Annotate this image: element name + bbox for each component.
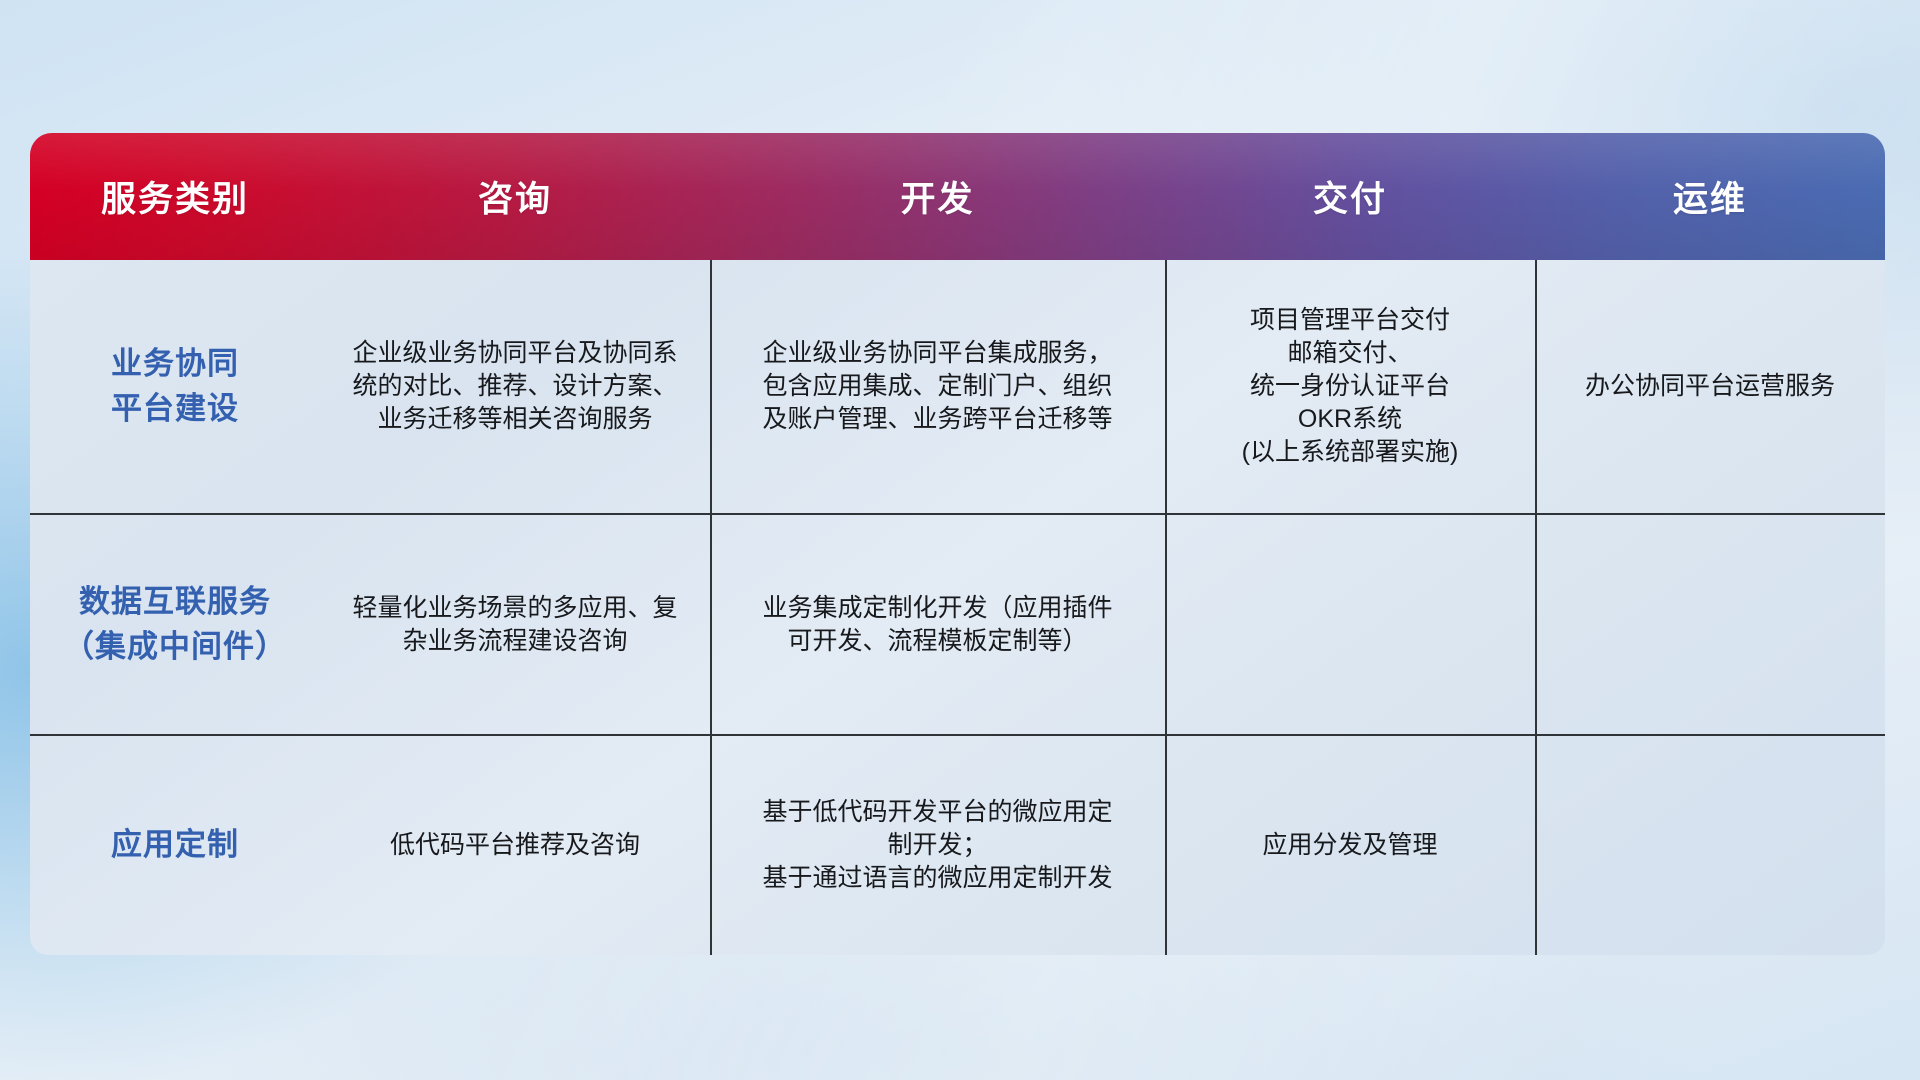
cell-operations — [1535, 515, 1885, 734]
cell-consulting: 低代码平台推荐及咨询 — [320, 736, 710, 955]
table-row: 业务协同 平台建设 企业级业务协同平台及协同系 统的对比、推荐、设计方案、 业务… — [30, 260, 1885, 513]
cell-text: 轻量化业务场景的多应用、复 杂业务流程建设咨询 — [352, 592, 677, 658]
table-header-row: 服务类别 咨询 开发 交付 运维 — [30, 133, 1885, 260]
cell-text: 业务集成定制化开发（应用插件 可开发、流程模板定制等） — [762, 592, 1112, 658]
cell-delivery: 应用分发及管理 — [1165, 736, 1535, 955]
header-cell-operations: 运维 — [1535, 133, 1885, 260]
cell-delivery: 项目管理平台交付 邮箱交付、 统一身份认证平台 OKR系统 (以上系统部署实施) — [1165, 260, 1535, 513]
table-body: 业务协同 平台建设 企业级业务协同平台及协同系 统的对比、推荐、设计方案、 业务… — [30, 260, 1885, 955]
cell-text: 办公协同平台运营服务 — [1585, 370, 1835, 403]
cell-text: 项目管理平台交付 邮箱交付、 统一身份认证平台 OKR系统 (以上系统部署实施) — [1242, 304, 1459, 469]
cell-development: 业务集成定制化开发（应用插件 可开发、流程模板定制等） — [710, 515, 1165, 734]
cell-consulting: 企业级业务协同平台及协同系 统的对比、推荐、设计方案、 业务迁移等相关咨询服务 — [320, 260, 710, 513]
cell-category: 应用定制 — [30, 736, 320, 955]
cell-consulting: 轻量化业务场景的多应用、复 杂业务流程建设咨询 — [320, 515, 710, 734]
header-cell-consulting: 咨询 — [320, 133, 710, 260]
header-cell-development: 开发 — [710, 133, 1165, 260]
table-row: 应用定制 低代码平台推荐及咨询 基于低代码开发平台的微应用定 制开发； 基于通过… — [30, 734, 1885, 955]
cell-text: 应用定制 — [111, 823, 239, 868]
table-row: 数据互联服务 （集成中间件） 轻量化业务场景的多应用、复 杂业务流程建设咨询 业… — [30, 513, 1885, 734]
cell-text: 企业级业务协同平台及协同系 统的对比、推荐、设计方案、 业务迁移等相关咨询服务 — [352, 337, 677, 436]
cell-text: 低代码平台推荐及咨询 — [390, 829, 640, 862]
cell-text: 企业级业务协同平台集成服务， 包含应用集成、定制门户、组织 及账户管理、业务跨平… — [762, 337, 1112, 436]
cell-development: 企业级业务协同平台集成服务， 包含应用集成、定制门户、组织 及账户管理、业务跨平… — [710, 260, 1165, 513]
slide-canvas: 服务类别 咨询 开发 交付 运维 业务协同 平台建设 企业级业务协同平台及协同系… — [0, 0, 1920, 1080]
cell-text: 基于低代码开发平台的微应用定 制开发； 基于通过语言的微应用定制开发 — [762, 796, 1112, 895]
cell-operations — [1535, 736, 1885, 955]
cell-operations: 办公协同平台运营服务 — [1535, 260, 1885, 513]
cell-text: 数据互联服务 （集成中间件） — [63, 580, 287, 670]
cell-text: 业务协同 平台建设 — [111, 342, 239, 432]
header-cell-delivery: 交付 — [1165, 133, 1535, 260]
cell-development: 基于低代码开发平台的微应用定 制开发； 基于通过语言的微应用定制开发 — [710, 736, 1165, 955]
cell-category: 数据互联服务 （集成中间件） — [30, 515, 320, 734]
header-cell-service-category: 服务类别 — [30, 133, 320, 260]
cell-delivery — [1165, 515, 1535, 734]
cell-text: 应用分发及管理 — [1262, 829, 1437, 862]
service-matrix-table: 服务类别 咨询 开发 交付 运维 业务协同 平台建设 企业级业务协同平台及协同系… — [30, 133, 1885, 951]
cell-category: 业务协同 平台建设 — [30, 260, 320, 513]
